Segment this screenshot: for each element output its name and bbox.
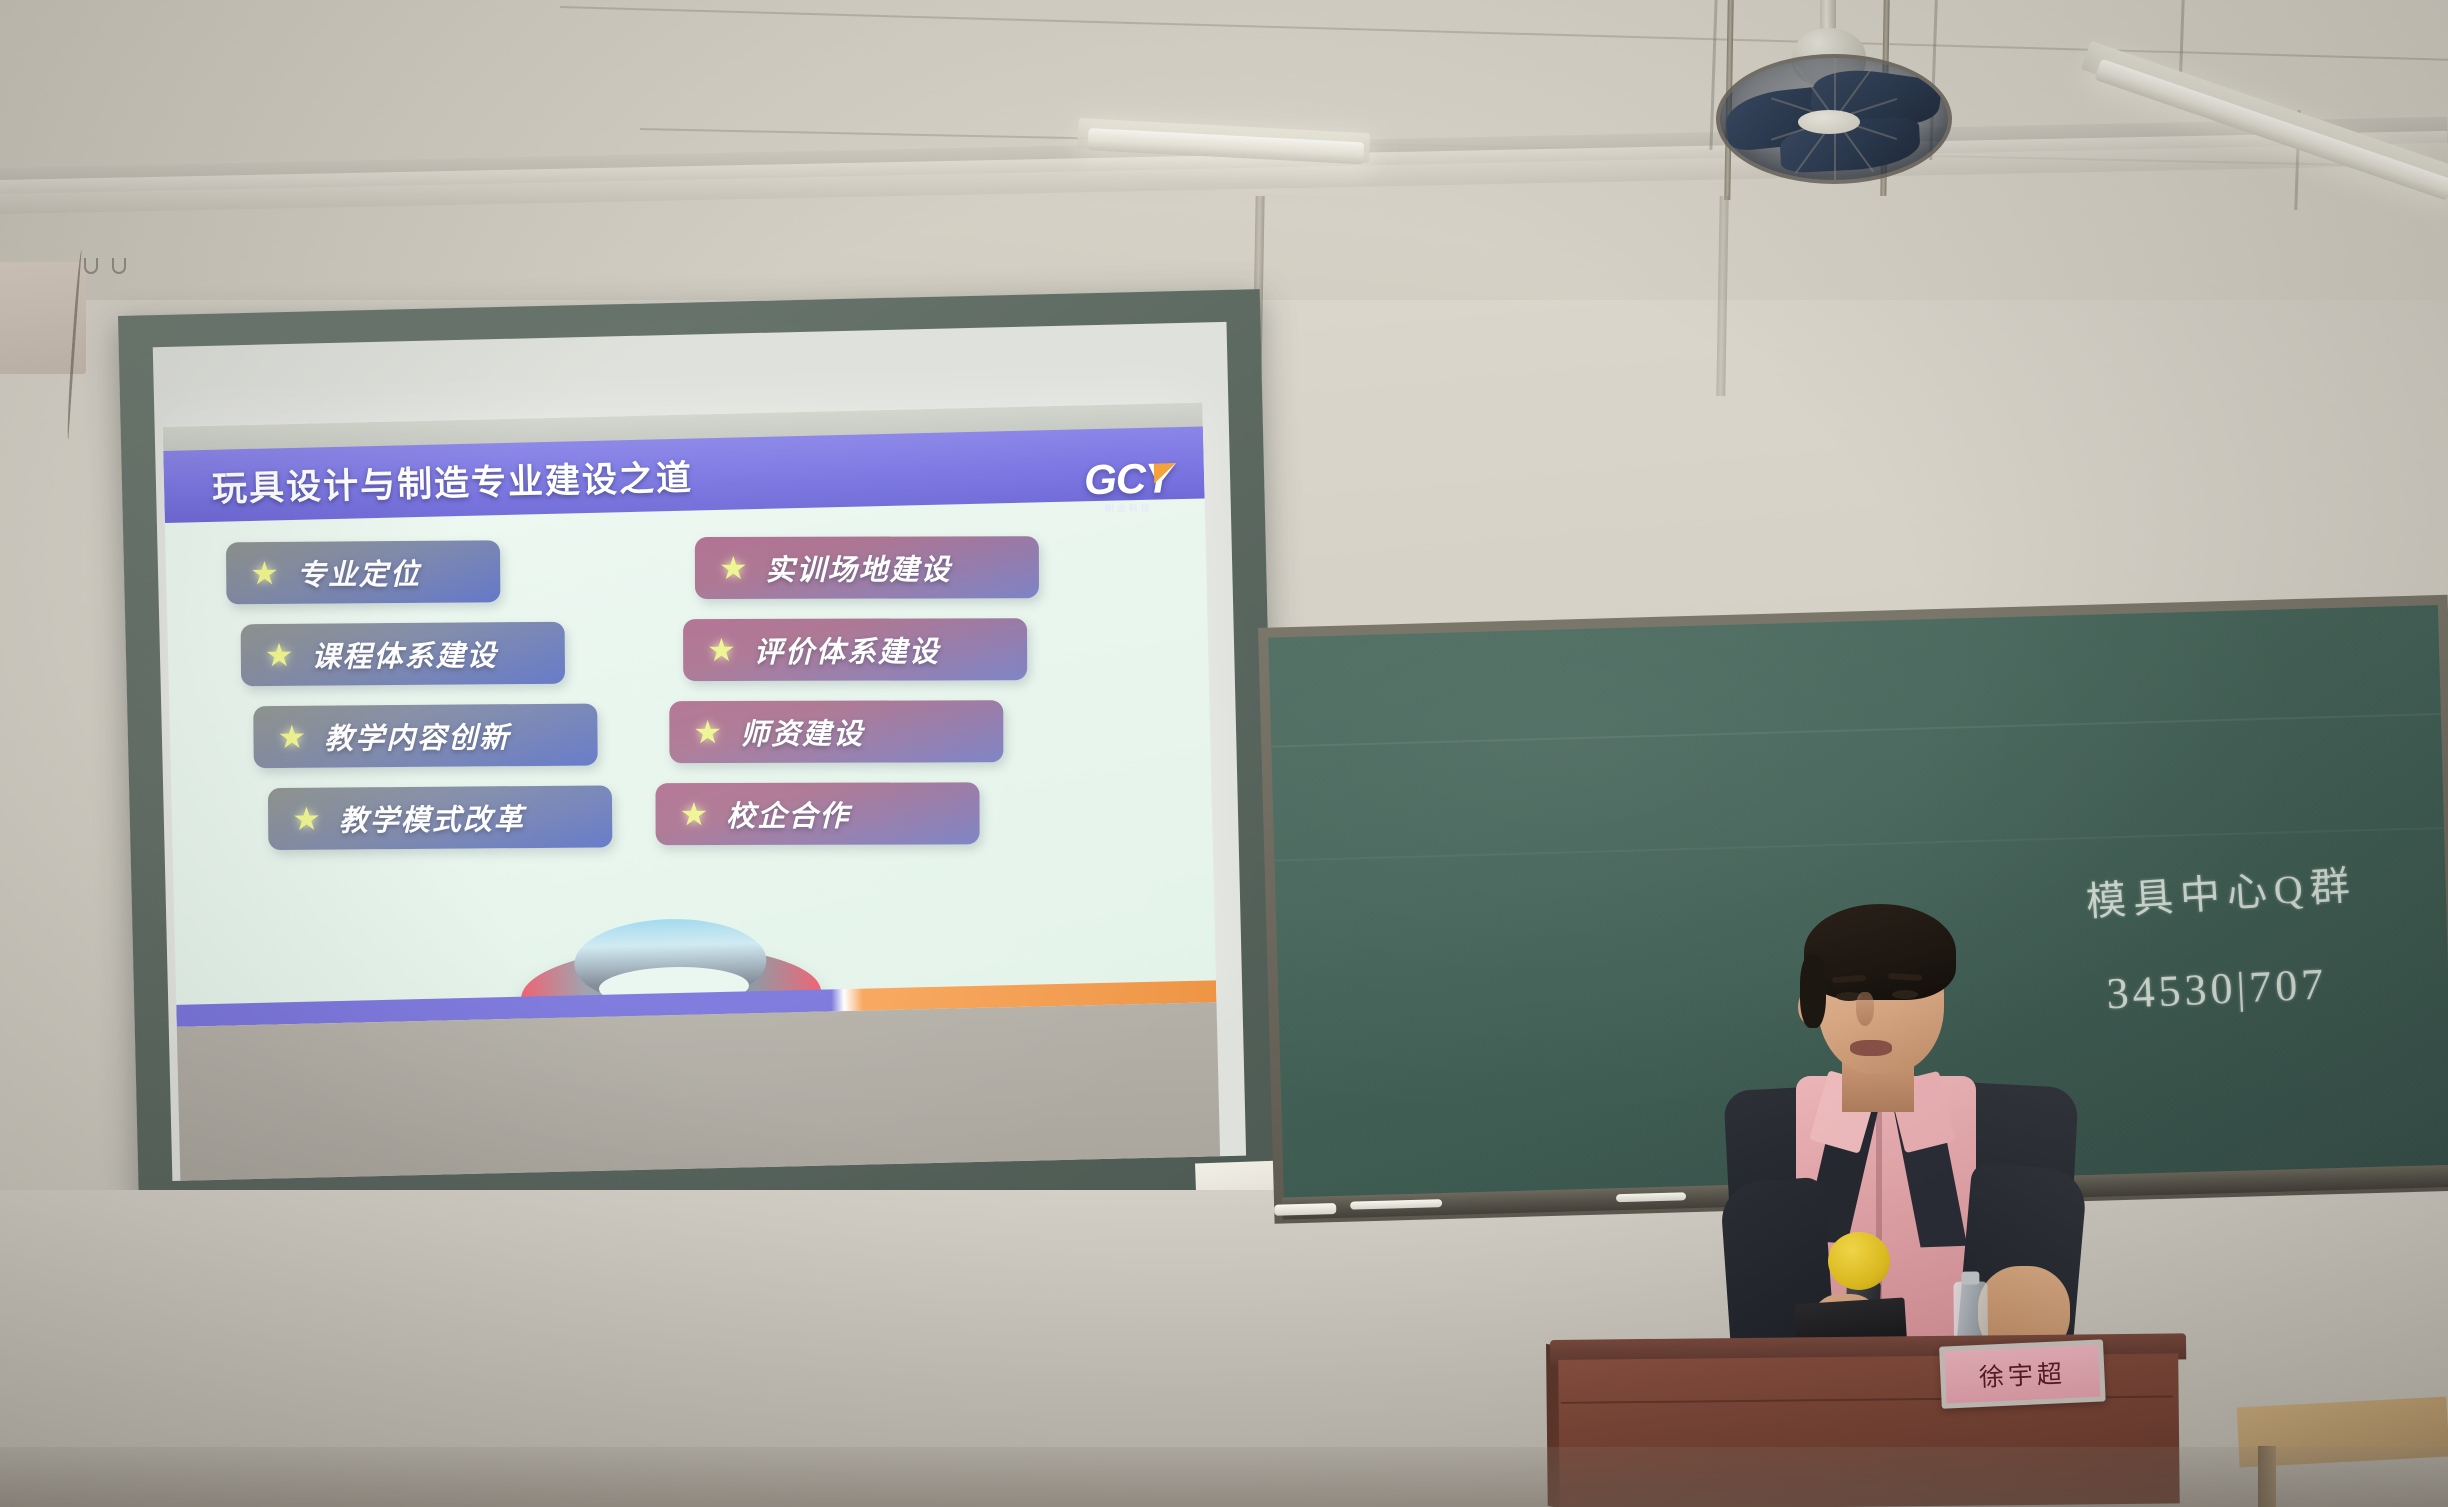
eye-right: [1892, 990, 1918, 999]
wall-hook-icon: [112, 258, 126, 274]
slide-item: ★ 实训场地建设: [695, 536, 1039, 599]
star-icon: ★: [277, 721, 306, 753]
water-bottle[interactable]: [1953, 1281, 1988, 1343]
floor: [0, 1447, 2448, 1507]
star-icon: ★: [292, 803, 321, 835]
slide-item: ★ 评价体系建设: [683, 618, 1027, 681]
screen-surface: 玩具设计与制造专业建设之道 GCY 职业科技 ★ 专业定位: [153, 322, 1246, 1181]
slide-item-label: 专业定位: [297, 551, 421, 594]
nose: [1856, 992, 1874, 1026]
star-icon: ★: [265, 639, 294, 671]
bottle-cap: [1961, 1272, 1979, 1285]
slide-item: ★ 教学模式改革: [268, 785, 612, 850]
mouth: [1850, 1040, 1892, 1056]
slide-right-column: ★ 实训场地建设 ★ 评价体系建设 ★ 师资建设 ★: [669, 536, 1050, 865]
star-icon: ★: [680, 798, 709, 830]
chalk-stick[interactable]: [1350, 1199, 1442, 1210]
triangle-accent-icon: [1154, 463, 1176, 484]
star-icon: ★: [707, 634, 736, 666]
hair: [1804, 904, 1956, 1000]
microphone-head-icon[interactable]: [1828, 1232, 1890, 1290]
chalk-eraser[interactable]: [1274, 1203, 1336, 1216]
slide-item-label: 校企合作: [726, 793, 850, 835]
nameplate: 徐宇超: [1939, 1339, 2106, 1408]
star-icon: ★: [693, 716, 722, 748]
fan-hub-label: [1798, 110, 1860, 134]
nameplate-text: 徐宇超: [1978, 1354, 2067, 1394]
wall-hook-icon: [84, 258, 98, 274]
slide-item: ★ 课程体系建设: [241, 622, 565, 687]
slide-item-label: 课程体系建设: [311, 632, 497, 675]
slide-item: ★ 专业定位: [226, 540, 500, 604]
slide-item-label: 教学模式改革: [339, 796, 525, 839]
projection-screen[interactable]: 玩具设计与制造专业建设之道 GCY 职业科技 ★ 专业定位: [118, 289, 1281, 1216]
slide-item-label: 教学内容创新: [324, 714, 510, 757]
hair-sideburn: [1800, 954, 1826, 1028]
slide-left-column: ★ 专业定位 ★ 课程体系建设 ★ 教学内容创新 ★: [226, 539, 629, 870]
slide-item: ★ 教学内容创新: [253, 703, 597, 768]
slide-title: 玩具设计与制造专业建设之道: [211, 449, 693, 511]
classroom-photo-scene: 玩具设计与制造专业建设之道 GCY 职业科技 ★ 专业定位: [0, 0, 2448, 1507]
slide-item: ★ 校企合作: [655, 782, 979, 845]
slide-item-label: 评价体系建设: [754, 628, 940, 670]
slide-item-label: 实训场地建设: [766, 546, 952, 588]
presentation-slide: 玩具设计与制造专业建设之道 GCY 职业科技 ★ 专业定位: [163, 402, 1217, 1026]
slide-body: ★ 专业定位 ★ 课程体系建设 ★ 教学内容创新 ★: [165, 498, 1217, 1026]
slide-item: ★ 师资建设: [669, 700, 1003, 763]
star-icon: ★: [719, 552, 748, 584]
ceiling-fan-icon: [1700, 0, 1960, 184]
chalk-text-line-2: 34530|707: [2105, 958, 2328, 1019]
chalk-stick[interactable]: [1616, 1192, 1686, 1202]
screen-unlit-area: [177, 1002, 1221, 1181]
star-icon: ★: [250, 557, 279, 589]
nameplate-inner: 徐宇超: [1944, 1345, 2100, 1404]
slide-item-label: 师资建设: [740, 711, 864, 753]
